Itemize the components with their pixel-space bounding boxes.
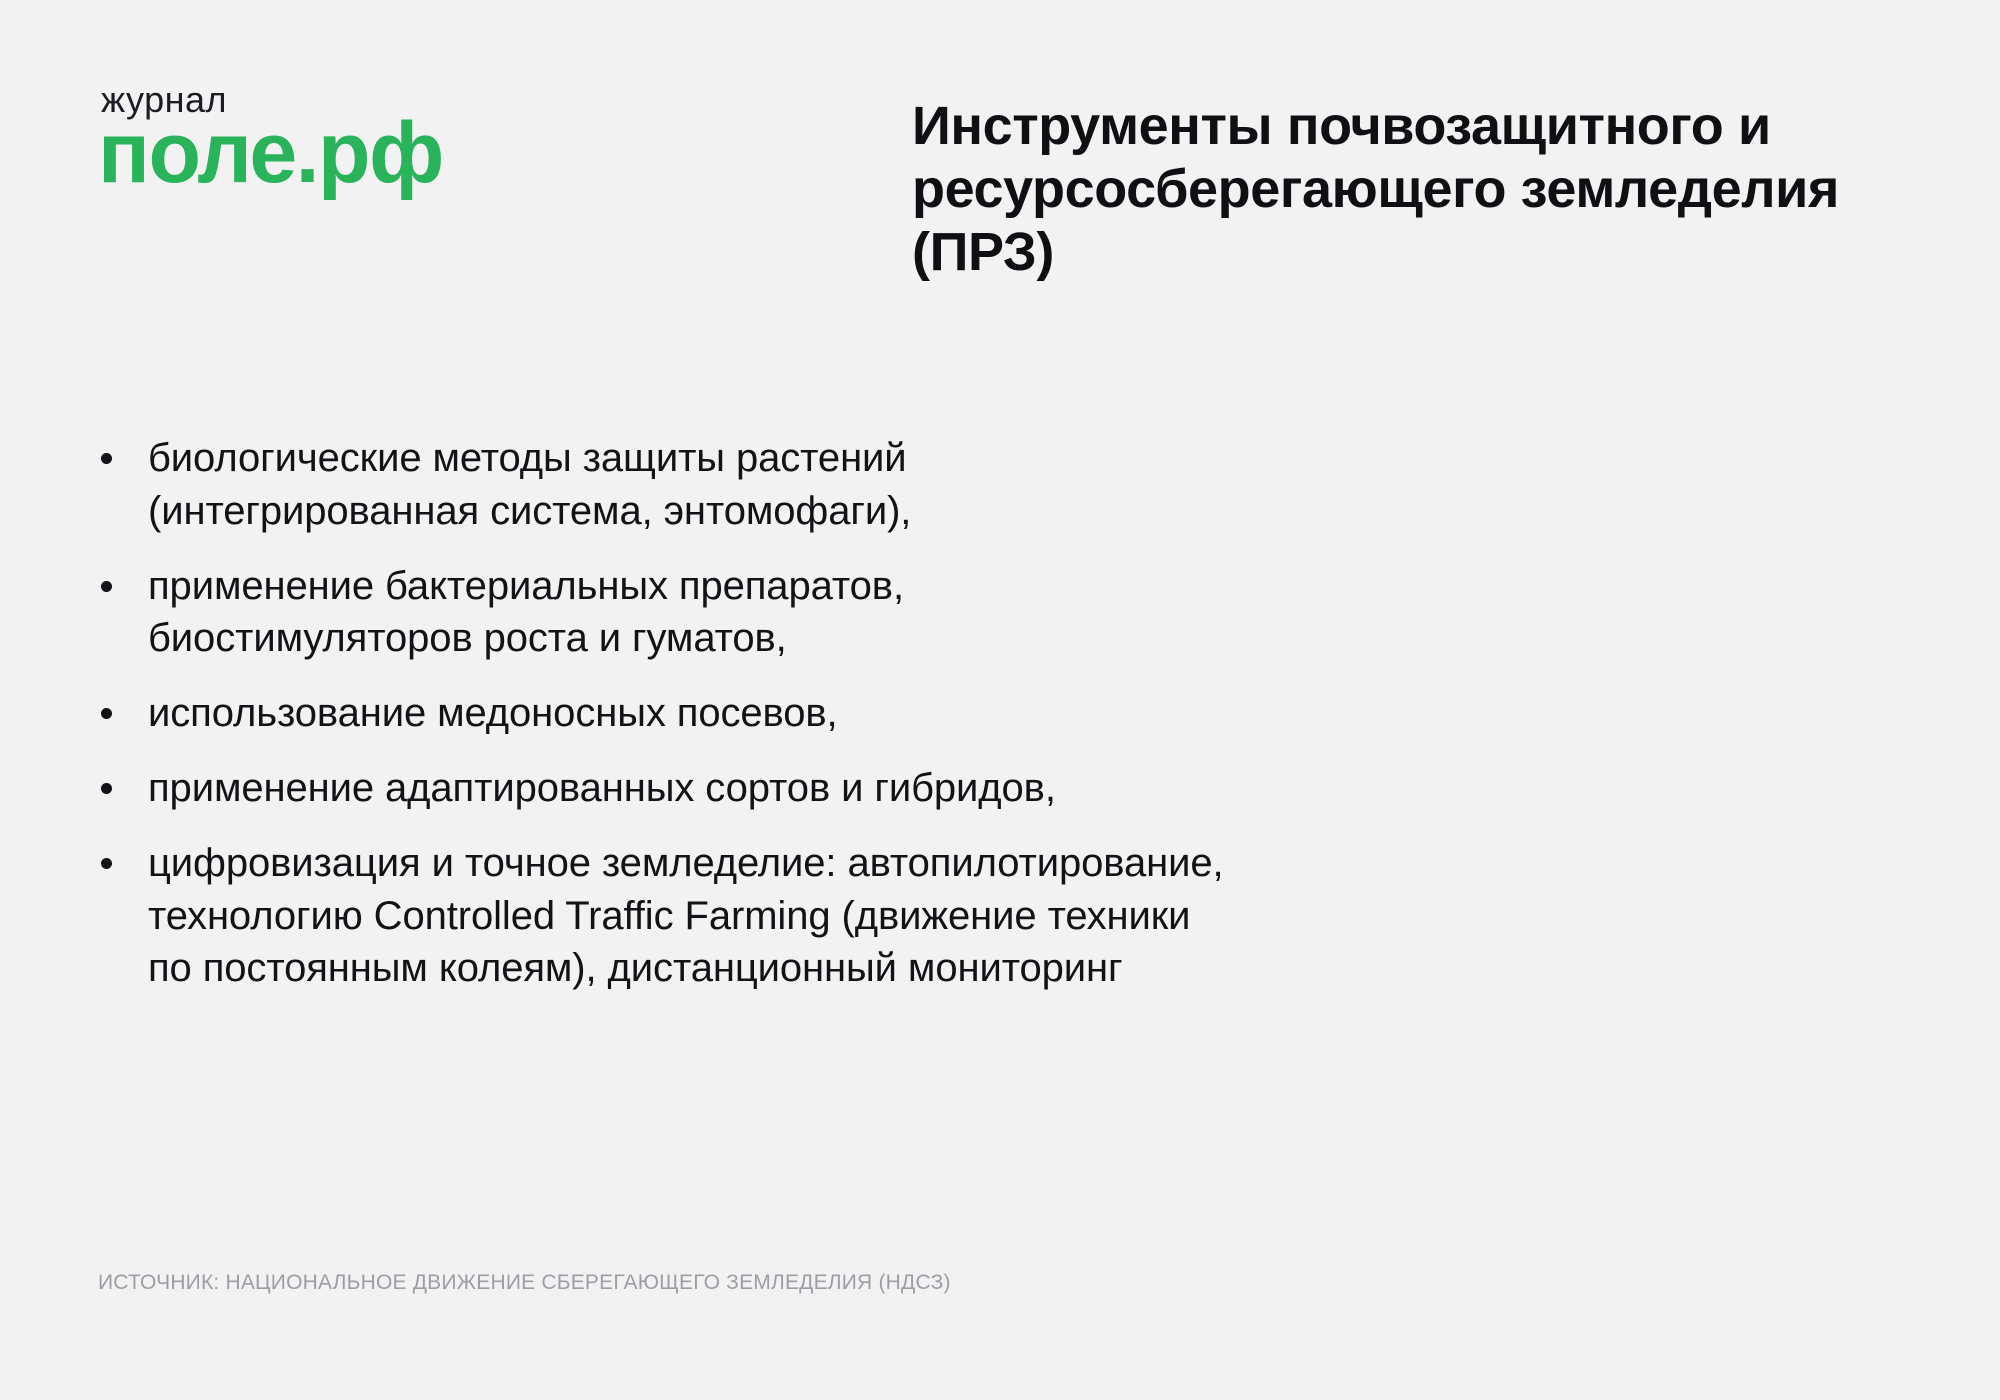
list-item-label: биологические методы защиты растений (ин…	[148, 432, 1775, 538]
bullet-list: биологические методы защиты растений (ин…	[95, 432, 1775, 995]
bullet-dot-icon	[101, 783, 112, 794]
slide-canvas: журнал поле.рф Инструменты почвозащитног…	[0, 0, 2000, 1400]
bullet-dot-icon	[101, 708, 112, 719]
list-item: биологические методы защиты растений (ин…	[95, 432, 1775, 538]
list-item-label: цифровизация и точное земледелие: автопи…	[148, 837, 1775, 995]
list-item-label: применение бактериальных препаратов, био…	[148, 560, 1775, 666]
logo-wordmark-text: поле.рф	[98, 110, 443, 196]
list-item: применение адаптированных сортов и гибри…	[95, 762, 1775, 815]
list-item-label: использование медоносных посевов,	[148, 687, 1775, 740]
page-title: Инструменты почвозащитного и ресурсосбер…	[912, 95, 1922, 285]
list-item: применение бактериальных препаратов, био…	[95, 560, 1775, 666]
source-caption: ИСТОЧНИК: НАЦИОНАЛЬНОЕ ДВИЖЕНИЕ СБЕРЕГАЮ…	[98, 1272, 951, 1293]
bullet-dot-icon	[101, 858, 112, 869]
bullet-dot-icon	[101, 453, 112, 464]
bullet-dot-icon	[101, 581, 112, 592]
brand-logo: журнал поле.рф	[98, 82, 538, 192]
list-item: цифровизация и точное земледелие: автопи…	[95, 837, 1775, 995]
list-item-label: применение адаптированных сортов и гибри…	[148, 762, 1775, 815]
list-item: использование медоносных посевов,	[95, 687, 1775, 740]
